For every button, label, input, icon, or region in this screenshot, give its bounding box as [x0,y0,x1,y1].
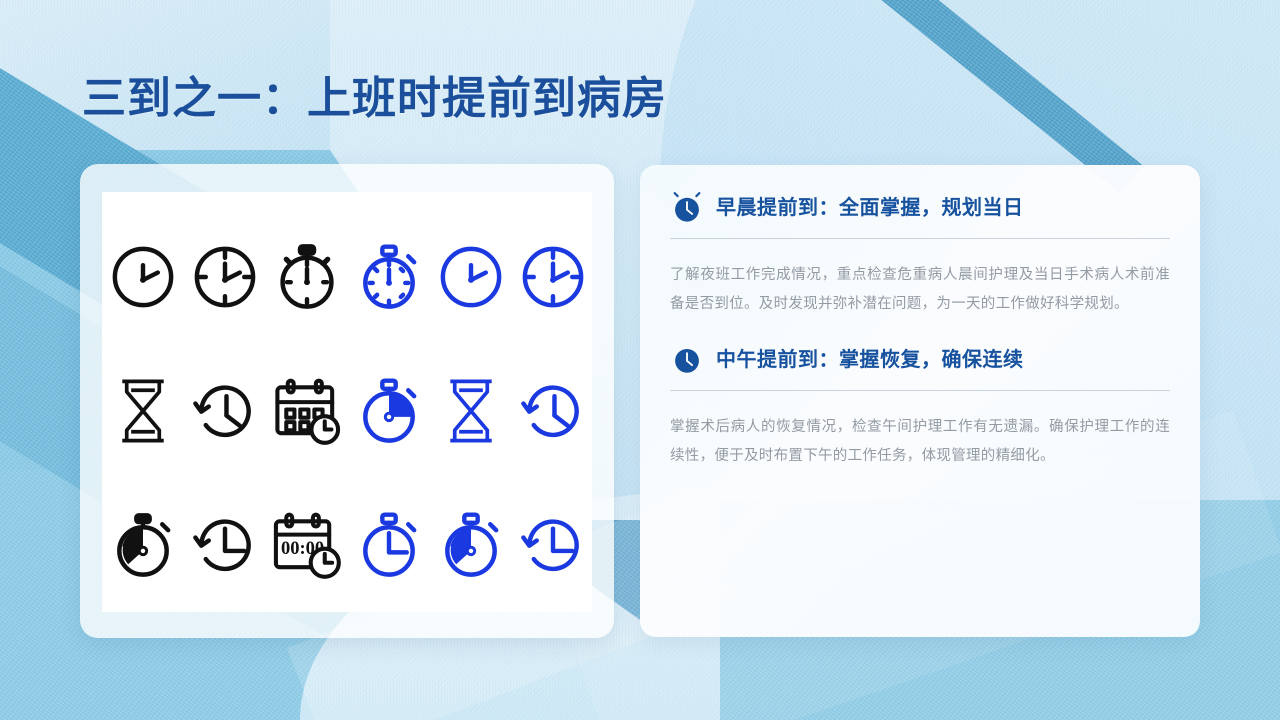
page-title-prefix: 三到之一： [82,74,307,123]
clock-plain-icon [102,236,184,318]
stopwatch-pie-filled-icon [430,504,512,586]
stopwatch-pie-filled-icon [102,504,184,586]
clock-ticks-icon [184,236,266,318]
clock-arrow-square-icon [512,504,592,586]
page-title-main: 上班时提前到病房 [307,74,667,123]
clock-arrow-icon [184,370,266,452]
calendar-clock-icon [266,370,348,452]
stopwatch-square-icon [348,504,430,586]
stopwatch-icon [266,236,348,318]
calendar-time-icon: 00:00 [266,504,348,586]
section-body-noon: 掌握术后病人的恢复情况，检查午间护理工作有无遗漏。确保护理工作的连续性，便于及时… [670,413,1170,471]
section-divider-morning [670,238,1170,239]
clock-arrow-square-icon [184,504,266,586]
clock-arrow-icon [512,370,592,452]
stopwatch-filled-icon [348,370,430,452]
section-title-morning: 早晨提前到：全面掌握，规划当日 [716,196,1024,220]
section-body-morning: 了解夜班工作完成情况，重点检查危重病人晨间护理及当日手术病人术前准备是否到位。及… [670,261,1170,319]
page-title: 三到之一：上班时提前到病房 [82,62,667,126]
section-heading-noon: 中午提前到：掌握恢复，确保连续 [670,343,1170,377]
slide-root: 三到之一：上班时提前到病房 [0,0,1280,720]
clock-ticks-icon [512,236,592,318]
clock-icon-collection: 00:00 [102,192,592,612]
alarm-clock-icon [670,191,704,225]
clock-plain-icon [430,236,512,318]
section-spacer [670,319,1170,343]
section-title-noon: 中午提前到：掌握恢复，确保连续 [716,348,1024,372]
section-divider-noon [670,390,1170,391]
clock-icon [670,343,704,377]
hourglass-icon [102,370,184,452]
right-text-card: 早晨提前到：全面掌握，规划当日 了解夜班工作完成情况，重点检查危重病人晨间护理及… [640,165,1200,637]
section-heading-morning: 早晨提前到：全面掌握，规划当日 [670,191,1170,225]
hourglass-icon [430,370,512,452]
stopwatch-dots-icon [348,236,430,318]
